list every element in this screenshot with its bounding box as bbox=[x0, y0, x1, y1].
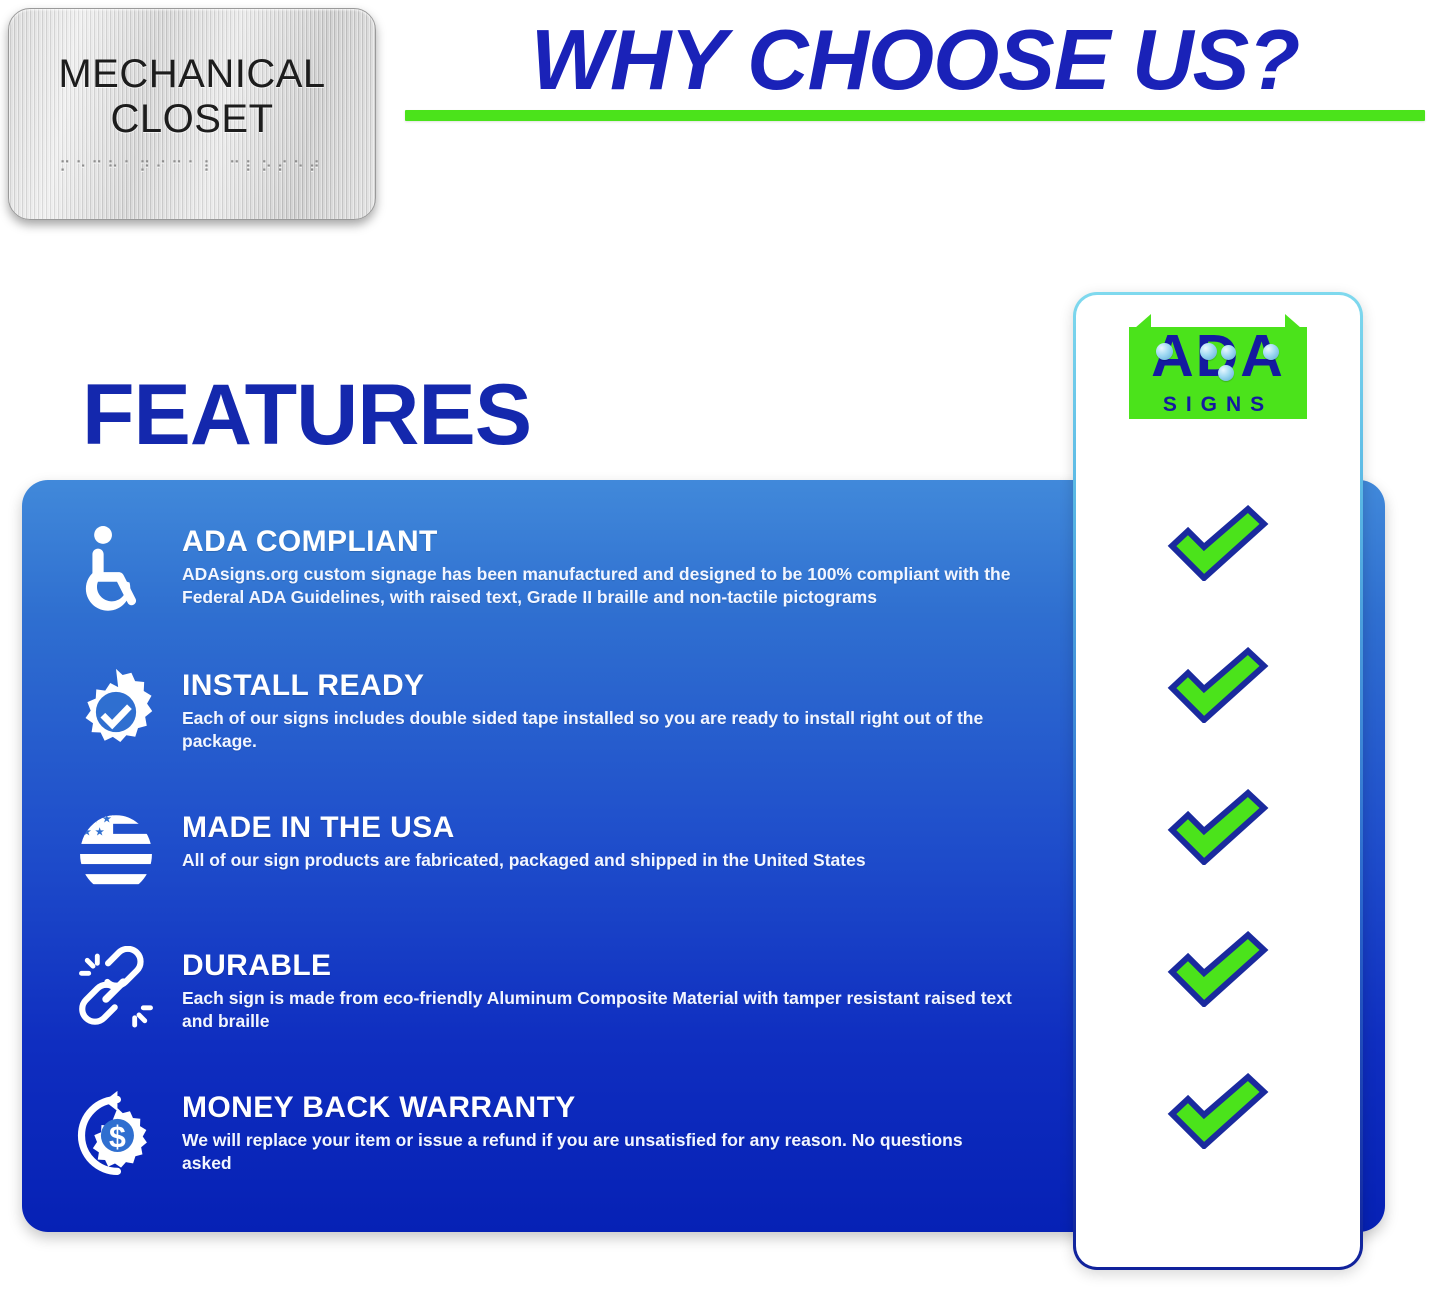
feature-description: All of our sign products are fabricated,… bbox=[182, 849, 866, 872]
infographic-page: MECHANICAL CLOSET ⠍⠑⠉⠓⠁⠝⠊⠉⠁⠇ ⠉⠇⠕⠎⠑⠞ WHY … bbox=[0, 0, 1445, 1294]
chain-link-icon bbox=[68, 946, 164, 1042]
feature-text: ADA COMPLIANT ADAsigns.org custom signag… bbox=[182, 522, 1012, 609]
braille-dot-icon bbox=[1156, 343, 1173, 360]
feature-text: MADE IN THE USA All of our sign products… bbox=[182, 808, 866, 872]
headline-block: WHY CHOOSE US? bbox=[405, 18, 1425, 121]
braille-dot-icon bbox=[1263, 344, 1279, 360]
svg-text:$: $ bbox=[109, 1121, 126, 1154]
braille-dot-icon bbox=[1200, 343, 1217, 360]
feature-title: INSTALL READY bbox=[182, 670, 1012, 702]
svg-text:★: ★ bbox=[76, 811, 86, 825]
gear-check-icon bbox=[68, 666, 164, 762]
feature-row: ★ ★ ★ ★ ★ MADE IN THE USA All of our sig… bbox=[68, 808, 1058, 904]
money-back-icon: $ bbox=[68, 1088, 164, 1184]
braille-dot-icon bbox=[1218, 365, 1234, 381]
feature-text: DURABLE Each sign is made from eco-frien… bbox=[182, 946, 1012, 1033]
sign-text-line-1: MECHANICAL bbox=[58, 52, 325, 97]
product-sign-plate: MECHANICAL CLOSET ⠍⠑⠉⠓⠁⠝⠊⠉⠁⠇ ⠉⠇⠕⠎⠑⠞ bbox=[8, 8, 376, 220]
feature-title: MADE IN THE USA bbox=[182, 812, 866, 844]
checkmark-ada-compliant bbox=[1166, 505, 1270, 581]
feature-text: MONEY BACK WARRANTY We will replace your… bbox=[182, 1088, 1012, 1175]
features-heading: FEATURES bbox=[82, 372, 531, 458]
wheelchair-accessibility-icon bbox=[68, 522, 164, 618]
feature-title: DURABLE bbox=[182, 950, 1012, 982]
feature-description: ADAsigns.org custom signage has been man… bbox=[182, 563, 1012, 610]
usa-flag-icon: ★ ★ ★ ★ ★ bbox=[68, 808, 164, 904]
feature-text: INSTALL READY Each of our signs includes… bbox=[182, 666, 1012, 753]
checkmark-durable bbox=[1166, 931, 1270, 1007]
feature-description: Each sign is made from eco-friendly Alum… bbox=[182, 987, 1012, 1034]
feature-row: ADA COMPLIANT ADAsigns.org custom signag… bbox=[68, 522, 1058, 618]
logo-secondary-text: SIGNS bbox=[1129, 393, 1307, 417]
checkmark-money-back bbox=[1166, 1073, 1270, 1149]
sign-braille-text: ⠍⠑⠉⠓⠁⠝⠊⠉⠁⠇ ⠉⠇⠕⠎⠑⠞ bbox=[59, 158, 325, 176]
checkmark-install-ready bbox=[1166, 647, 1270, 723]
feature-description: We will replace your item or issue a ref… bbox=[182, 1129, 1012, 1176]
headline-divider bbox=[405, 110, 1425, 121]
page-title: WHY CHOOSE US? bbox=[405, 18, 1425, 103]
feature-row: INSTALL READY Each of our signs includes… bbox=[68, 666, 1058, 762]
svg-text:★: ★ bbox=[102, 811, 112, 825]
feature-row: $ MONEY BACK WARRANTY We will replace yo… bbox=[68, 1088, 1058, 1184]
feature-description: Each of our signs includes double sided … bbox=[182, 707, 1012, 754]
braille-dot-icon bbox=[1221, 345, 1236, 360]
ada-signs-logo: ADA SIGNS bbox=[1129, 327, 1307, 419]
svg-text:★: ★ bbox=[94, 824, 104, 838]
svg-text:★: ★ bbox=[82, 824, 92, 838]
logo-green-block: ADA SIGNS bbox=[1129, 327, 1307, 419]
brand-checklist-column: ADA SIGNS bbox=[1073, 292, 1363, 1270]
checkmark-made-in-usa bbox=[1166, 789, 1270, 865]
logo-primary-text: ADA bbox=[1129, 326, 1307, 388]
feature-title: ADA COMPLIANT bbox=[182, 526, 1012, 558]
feature-title: MONEY BACK WARRANTY bbox=[182, 1092, 1012, 1124]
sign-text-line-2: CLOSET bbox=[110, 97, 273, 142]
svg-text:★: ★ bbox=[89, 811, 99, 825]
feature-row: DURABLE Each sign is made from eco-frien… bbox=[68, 946, 1058, 1042]
